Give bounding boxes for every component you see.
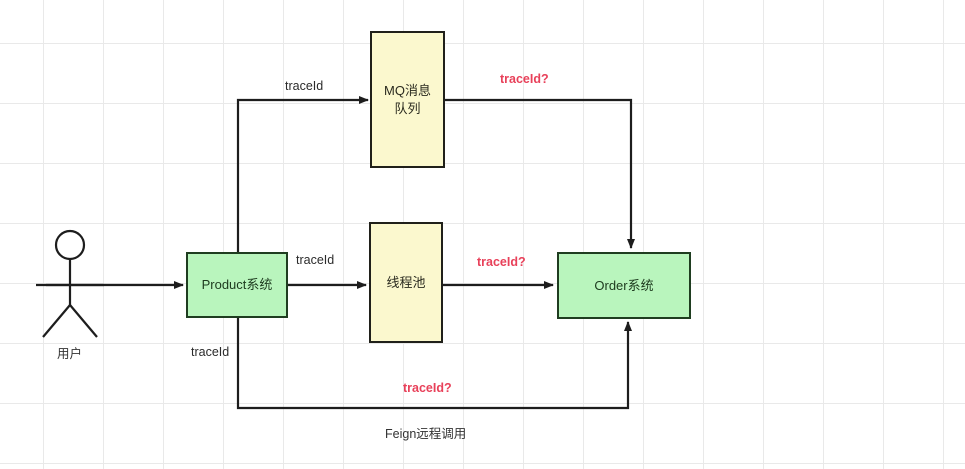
user-actor-label: 用户 [57, 343, 82, 362]
edge-label-product-to-threadpool: traceId [296, 253, 334, 267]
user-actor-figure [36, 231, 104, 337]
node-mq-queue[interactable]: MQ消息 队列 [370, 31, 445, 168]
node-product-system-label: Product系统 [202, 276, 273, 294]
edge-label-product-to-mq: traceId [285, 79, 323, 93]
edge-mq-to-order [445, 100, 631, 248]
edge-label-mq-to-order: traceId? [500, 72, 549, 86]
edge-label-feign-to-order: traceId? [403, 381, 452, 395]
edge-label-product-to-feign: traceId [191, 345, 229, 359]
connector-layer [0, 0, 965, 469]
node-mq-queue-label-line2: 队列 [384, 100, 431, 118]
node-mq-queue-label: MQ消息 队列 [384, 82, 431, 117]
node-order-system-label: Order系统 [594, 277, 653, 295]
node-product-system[interactable]: Product系统 [186, 252, 288, 318]
edge-label-threadpool-to-order: traceId? [477, 255, 526, 269]
edge-product-to-mq [238, 100, 368, 252]
diagram-canvas: MQ消息 队列 Product系统 线程池 Order系统 traceId tr… [0, 0, 965, 469]
node-thread-pool-label: 线程池 [386, 274, 425, 292]
node-order-system[interactable]: Order系统 [557, 252, 691, 319]
diagram-caption: Feign远程调用 [385, 423, 466, 442]
node-thread-pool[interactable]: 线程池 [369, 222, 443, 343]
node-mq-queue-label-line1: MQ消息 [384, 82, 431, 100]
